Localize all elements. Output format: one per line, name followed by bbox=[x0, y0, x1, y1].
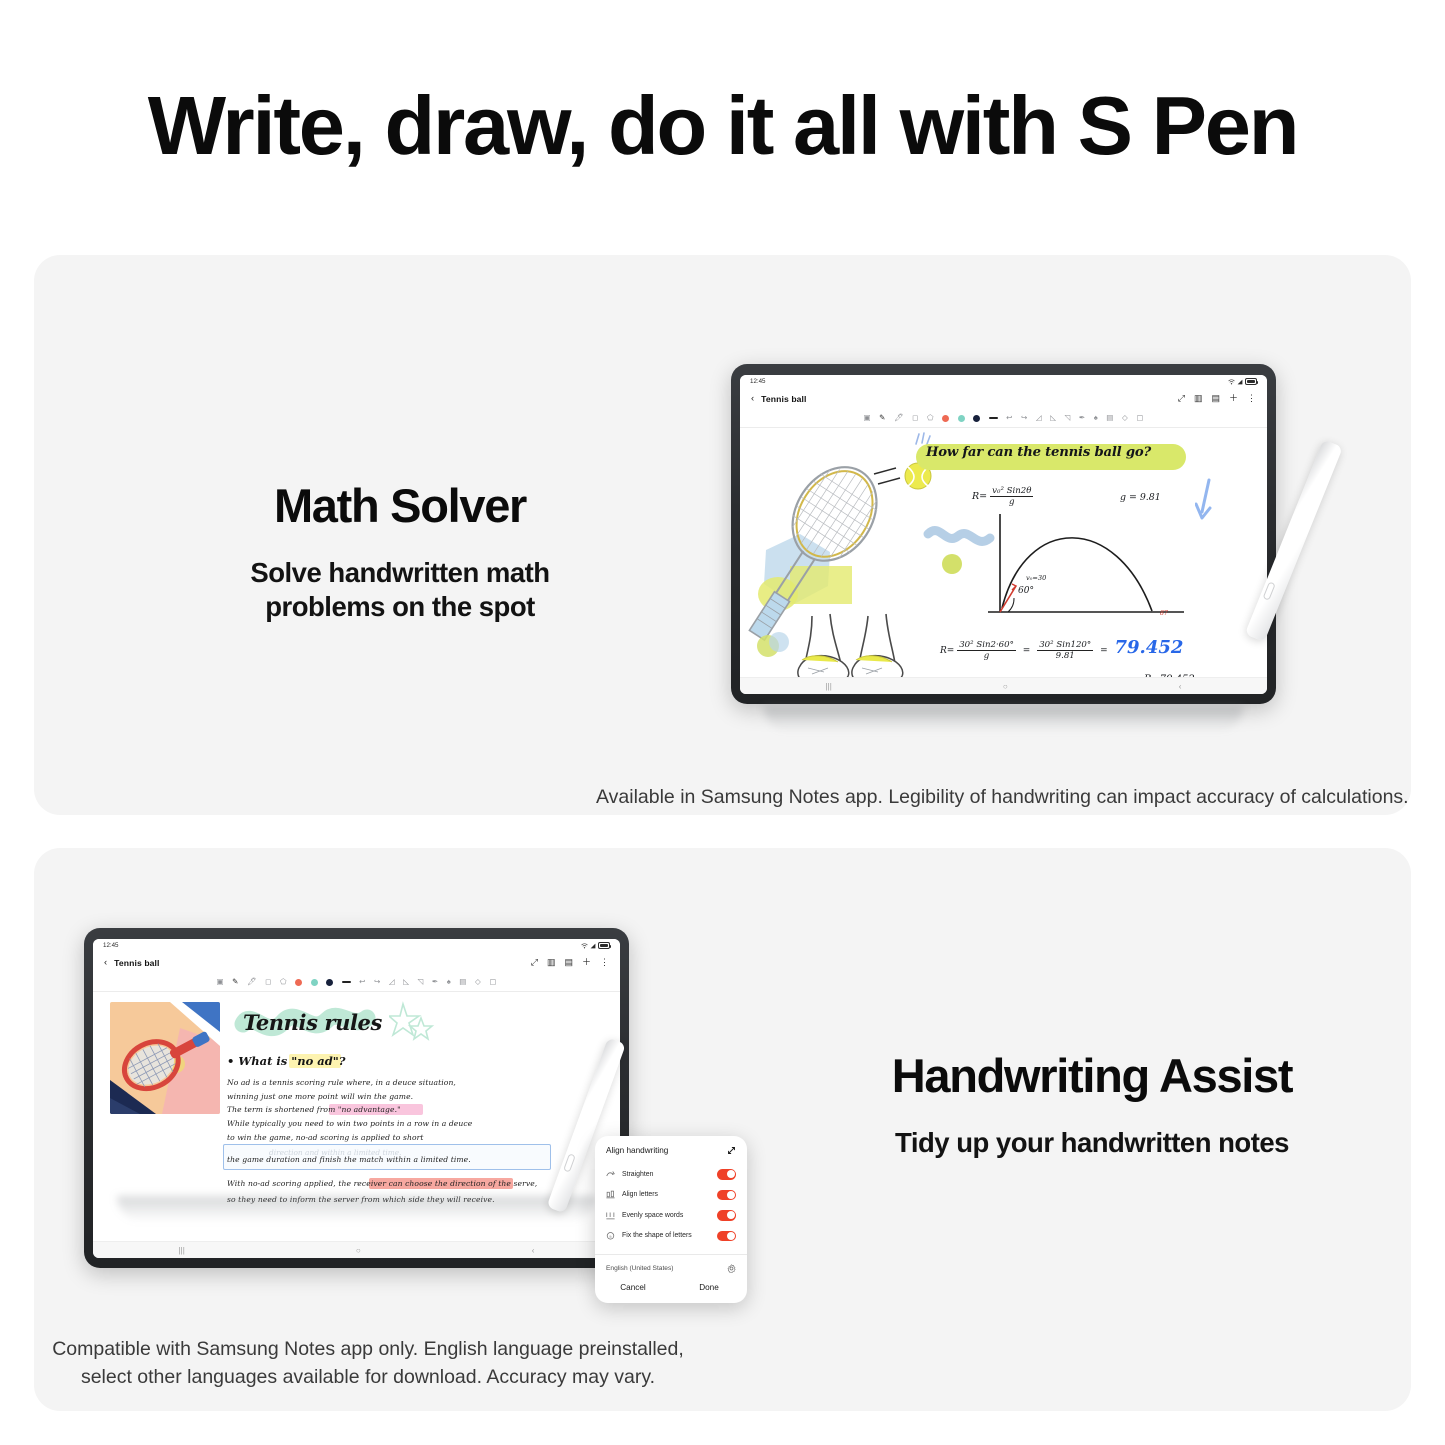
redo-icon[interactable]: ↪ bbox=[374, 978, 380, 986]
tablet-device-math: 12:45 ‹ Tennis ball ⤢ ▥ ▤ ＋ ⋮ bbox=[731, 364, 1276, 704]
ink-icon[interactable]: ♠ bbox=[1094, 414, 1098, 422]
math-solver-heading: Math Solver bbox=[120, 480, 680, 532]
step2-denominator: 9.81 bbox=[1037, 651, 1093, 661]
toggle-align-letters[interactable] bbox=[717, 1190, 736, 1201]
handwriting-text-block: Handwriting Assist Tidy up your handwrit… bbox=[772, 1050, 1412, 1160]
toggle-space-words[interactable] bbox=[717, 1210, 736, 1221]
color-swatch-teal[interactable] bbox=[311, 979, 318, 986]
done-button[interactable]: Done bbox=[671, 1283, 747, 1292]
dialog-title: Align handwriting bbox=[606, 1146, 668, 1155]
status-bar: 12:45 bbox=[740, 375, 1267, 388]
note-body-line: With no-ad scoring applied, the receiver… bbox=[227, 1179, 537, 1188]
text-icon[interactable]: ◹ bbox=[1065, 414, 1071, 422]
gear-icon[interactable] bbox=[727, 1264, 736, 1273]
language-label: English (United States) bbox=[606, 1265, 673, 1272]
option-label: Straighten bbox=[622, 1171, 710, 1178]
ink-icon[interactable]: ♠ bbox=[447, 978, 451, 986]
status-time: 12:45 bbox=[750, 378, 765, 385]
battery-icon bbox=[598, 942, 610, 949]
expand-icon[interactable]: ⤢ bbox=[531, 958, 538, 967]
scan-icon[interactable]: ▢ bbox=[1136, 414, 1143, 422]
step1-numerator: 30² Sin2·60° bbox=[957, 640, 1016, 651]
cancel-button[interactable]: Cancel bbox=[595, 1283, 671, 1292]
redo-icon[interactable]: ↪ bbox=[1021, 414, 1027, 422]
undo-icon[interactable]: ↩ bbox=[1006, 414, 1012, 422]
save-icon[interactable]: ▤ bbox=[564, 958, 573, 967]
eraser-icon[interactable]: ◻ bbox=[265, 978, 271, 986]
home-icon[interactable]: ○ bbox=[356, 1246, 361, 1255]
dialog-actions: Cancel Done bbox=[595, 1281, 747, 1303]
page-title: Write, draw, do it all with S Pen bbox=[0, 82, 1445, 169]
lasso-icon[interactable]: ◿ bbox=[389, 978, 395, 986]
highlighter-icon[interactable]: 🖊 bbox=[247, 978, 257, 986]
status-indicators bbox=[1228, 378, 1257, 385]
select-icon[interactable]: ◺ bbox=[1050, 414, 1056, 422]
note-body-line: No ad is a tennis scoring rule where, in… bbox=[227, 1078, 456, 1087]
toggle-straighten[interactable] bbox=[717, 1169, 736, 1180]
note-body-line-selected: the game duration and finish the match w… bbox=[227, 1155, 471, 1164]
system-nav-bar: ||| ○ ‹ bbox=[740, 677, 1267, 694]
straighten-icon bbox=[606, 1170, 615, 1179]
scan-icon[interactable]: ▢ bbox=[489, 978, 496, 986]
recents-icon[interactable]: ||| bbox=[179, 1246, 185, 1255]
device-reflection bbox=[117, 1196, 597, 1222]
app-bar: ‹ Tennis ball ⤢ ▥ ▤ ＋ ⋮ bbox=[740, 388, 1267, 409]
tennis-photo bbox=[110, 1002, 220, 1114]
wifi-icon bbox=[581, 943, 588, 949]
note-body-line: The term is shortened from "no advantage… bbox=[227, 1105, 401, 1114]
option-label: Evenly space words bbox=[622, 1212, 710, 1219]
note-body-line: winning just one more point will win the… bbox=[227, 1092, 413, 1101]
color-swatch-teal[interactable] bbox=[958, 415, 965, 422]
undo-icon[interactable]: ↩ bbox=[359, 978, 365, 986]
status-indicators bbox=[581, 942, 610, 949]
more-options-icon[interactable]: ⋮ bbox=[600, 958, 609, 967]
dialog-header: Align handwriting bbox=[595, 1146, 747, 1164]
expand-icon[interactable]: ⤢ bbox=[1178, 394, 1185, 403]
chevron-left-icon[interactable]: ‹ bbox=[104, 958, 107, 968]
note-canvas-math[interactable]: How far can the tennis ball go? R= v₀² S… bbox=[740, 428, 1267, 677]
angle-label: 60° bbox=[1018, 586, 1034, 596]
handwriting-assist-footnote: Compatible with Samsung Notes app only. … bbox=[48, 1336, 688, 1391]
initial-velocity-label: v₀=30 bbox=[1026, 574, 1046, 582]
pen-icon[interactable]: ✎ bbox=[879, 414, 885, 422]
space-words-icon bbox=[606, 1211, 615, 1220]
signal-icon bbox=[1237, 379, 1243, 385]
convert-icon[interactable]: ▤ bbox=[1106, 414, 1113, 422]
save-icon[interactable]: ▤ bbox=[1211, 394, 1220, 403]
option-row-straighten[interactable]: Straighten bbox=[595, 1164, 747, 1185]
solved-result: 79.452 bbox=[1115, 637, 1184, 658]
formula-denominator: g bbox=[990, 497, 1033, 507]
split-view-icon[interactable]: ▥ bbox=[1194, 394, 1203, 403]
marker-icon[interactable]: ✒ bbox=[432, 978, 438, 986]
tablet-screen-math: 12:45 ‹ Tennis ball ⤢ ▥ ▤ ＋ ⋮ bbox=[740, 375, 1267, 694]
math-solver-subheading: Solve handwritten math problems on the s… bbox=[120, 556, 680, 624]
app-bar: ‹ Tennis ball ⤢ ▥ ▤ ＋ ⋮ bbox=[93, 952, 620, 973]
status-time: 12:45 bbox=[103, 942, 118, 949]
math-solver-footnote: Available in Samsung Notes app. Legibili… bbox=[596, 784, 1411, 812]
split-view-icon[interactable]: ▥ bbox=[547, 958, 556, 967]
pen-icon[interactable]: ✎ bbox=[232, 978, 238, 986]
lasso-icon[interactable]: ◿ bbox=[1036, 414, 1042, 422]
shape-icon[interactable]: ⬠ bbox=[927, 414, 934, 422]
note-body-line: to win the game, no-ad scoring is applie… bbox=[227, 1133, 424, 1142]
math-solver-text-block: Math Solver Solve handwritten math probl… bbox=[120, 480, 680, 624]
eraser-icon[interactable]: ◻ bbox=[912, 414, 918, 422]
range-formula: R= v₀² Sin2θ g bbox=[972, 486, 1033, 507]
blue-arrow-annotation bbox=[1195, 478, 1217, 524]
note-body-line: While typically you need to win two poin… bbox=[227, 1119, 472, 1128]
color-swatch-navy[interactable] bbox=[973, 415, 980, 422]
handwriting-assist-heading: Handwriting Assist bbox=[772, 1050, 1412, 1102]
color-swatch-red[interactable] bbox=[295, 979, 302, 986]
svg-text:a: a bbox=[609, 1235, 612, 1239]
add-icon[interactable]: ＋ bbox=[582, 958, 591, 967]
wifi-icon bbox=[1228, 379, 1235, 385]
add-icon[interactable]: ＋ bbox=[1229, 394, 1238, 403]
option-row-letter-shape[interactable]: a Fix the shape of letters bbox=[595, 1226, 747, 1247]
back-icon[interactable]: ‹ bbox=[532, 1246, 535, 1255]
tag-icon[interactable]: ◇ bbox=[1122, 414, 1128, 422]
camera-icon[interactable]: ▣ bbox=[216, 978, 223, 986]
back-icon[interactable]: ‹ bbox=[1179, 682, 1182, 691]
align-handwriting-dialog[interactable]: Align handwriting Straighten Align lette… bbox=[595, 1136, 747, 1303]
tablet-device-handwriting: 12:45 ‹ Tennis ball ⤢ ▥ ▤ ＋ ⋮ bbox=[84, 928, 629, 1268]
text-icon[interactable]: ◹ bbox=[418, 978, 424, 986]
letter-shape-icon: a bbox=[606, 1231, 615, 1240]
note-bullet-line: • What is "no ad"? bbox=[227, 1054, 346, 1068]
color-swatch-navy[interactable] bbox=[326, 979, 333, 986]
more-options-icon[interactable]: ⋮ bbox=[1247, 394, 1256, 403]
note-title: Tennis ball bbox=[761, 394, 806, 404]
signal-icon bbox=[590, 943, 596, 949]
expand-diagonal-icon[interactable] bbox=[727, 1146, 736, 1155]
solution-steps: R= 30² Sin2·60° g = 30² Sin120° 9.81 = 7… bbox=[940, 637, 1183, 661]
page-root: Write, draw, do it all with S Pen Math S… bbox=[0, 0, 1445, 1445]
marker-icon[interactable]: ✒ bbox=[1079, 414, 1085, 422]
gravity-value: g = 9.81 bbox=[1120, 492, 1161, 503]
handwriting-assist-subheading: Tidy up your handwritten notes bbox=[772, 1126, 1412, 1160]
note-title: Tennis ball bbox=[114, 958, 159, 968]
shape-icon[interactable]: ⬠ bbox=[280, 978, 287, 986]
toggle-letter-shape[interactable] bbox=[717, 1231, 736, 1242]
note-question-text: How far can the tennis ball go? bbox=[926, 445, 1188, 460]
drawing-toolbar: ▣ ✎ 🖊 ◻ ⬠ ↩ ↪ ◿ ◺ ◹ ✒ ♠ ▤ ◇ ▢ bbox=[740, 409, 1267, 428]
step1-denominator: g bbox=[957, 651, 1016, 661]
battery-icon bbox=[1245, 378, 1257, 385]
highlighter-icon[interactable]: 🖊 bbox=[894, 414, 904, 422]
recents-icon[interactable]: ||| bbox=[826, 682, 832, 691]
option-row-align-letters[interactable]: Align letters bbox=[595, 1185, 747, 1206]
option-label: Fix the shape of letters bbox=[622, 1232, 710, 1239]
star-doodle bbox=[389, 1000, 435, 1042]
tag-icon[interactable]: ◇ bbox=[475, 978, 481, 986]
projectile-graph bbox=[986, 508, 1186, 628]
color-swatch-red[interactable] bbox=[942, 415, 949, 422]
language-row[interactable]: English (United States) bbox=[595, 1255, 747, 1281]
system-nav-bar: ||| ○ ‹ bbox=[93, 1241, 620, 1258]
stroke-width-indicator[interactable] bbox=[342, 981, 351, 983]
align-letters-icon bbox=[606, 1190, 615, 1199]
note-heading: Tennis rules bbox=[243, 1010, 382, 1035]
stroke-width-indicator[interactable] bbox=[989, 417, 998, 419]
select-icon[interactable]: ◺ bbox=[403, 978, 409, 986]
app-bar-actions: ⤢ ▥ ▤ ＋ ⋮ bbox=[1178, 394, 1256, 403]
formula-numerator: v₀² Sin2θ bbox=[990, 486, 1033, 497]
status-bar: 12:45 bbox=[93, 939, 620, 952]
range-marker-label: 87 bbox=[1160, 610, 1168, 617]
option-label: Align letters bbox=[622, 1191, 710, 1198]
option-row-space-words[interactable]: Evenly space words bbox=[595, 1205, 747, 1226]
drawing-toolbar: ▣ ✎ 🖊 ◻ ⬠ ↩ ↪ ◿ ◺ ◹ ✒ ♠ ▤ ◇ ▢ bbox=[93, 973, 620, 992]
step2-numerator: 30² Sin120° bbox=[1037, 640, 1093, 651]
app-bar-actions: ⤢ ▥ ▤ ＋ ⋮ bbox=[531, 958, 609, 967]
camera-icon[interactable]: ▣ bbox=[863, 414, 870, 422]
chevron-left-icon[interactable]: ‹ bbox=[751, 394, 754, 404]
device-reflection bbox=[764, 706, 1244, 732]
convert-icon[interactable]: ▤ bbox=[459, 978, 466, 986]
home-icon[interactable]: ○ bbox=[1003, 682, 1008, 691]
